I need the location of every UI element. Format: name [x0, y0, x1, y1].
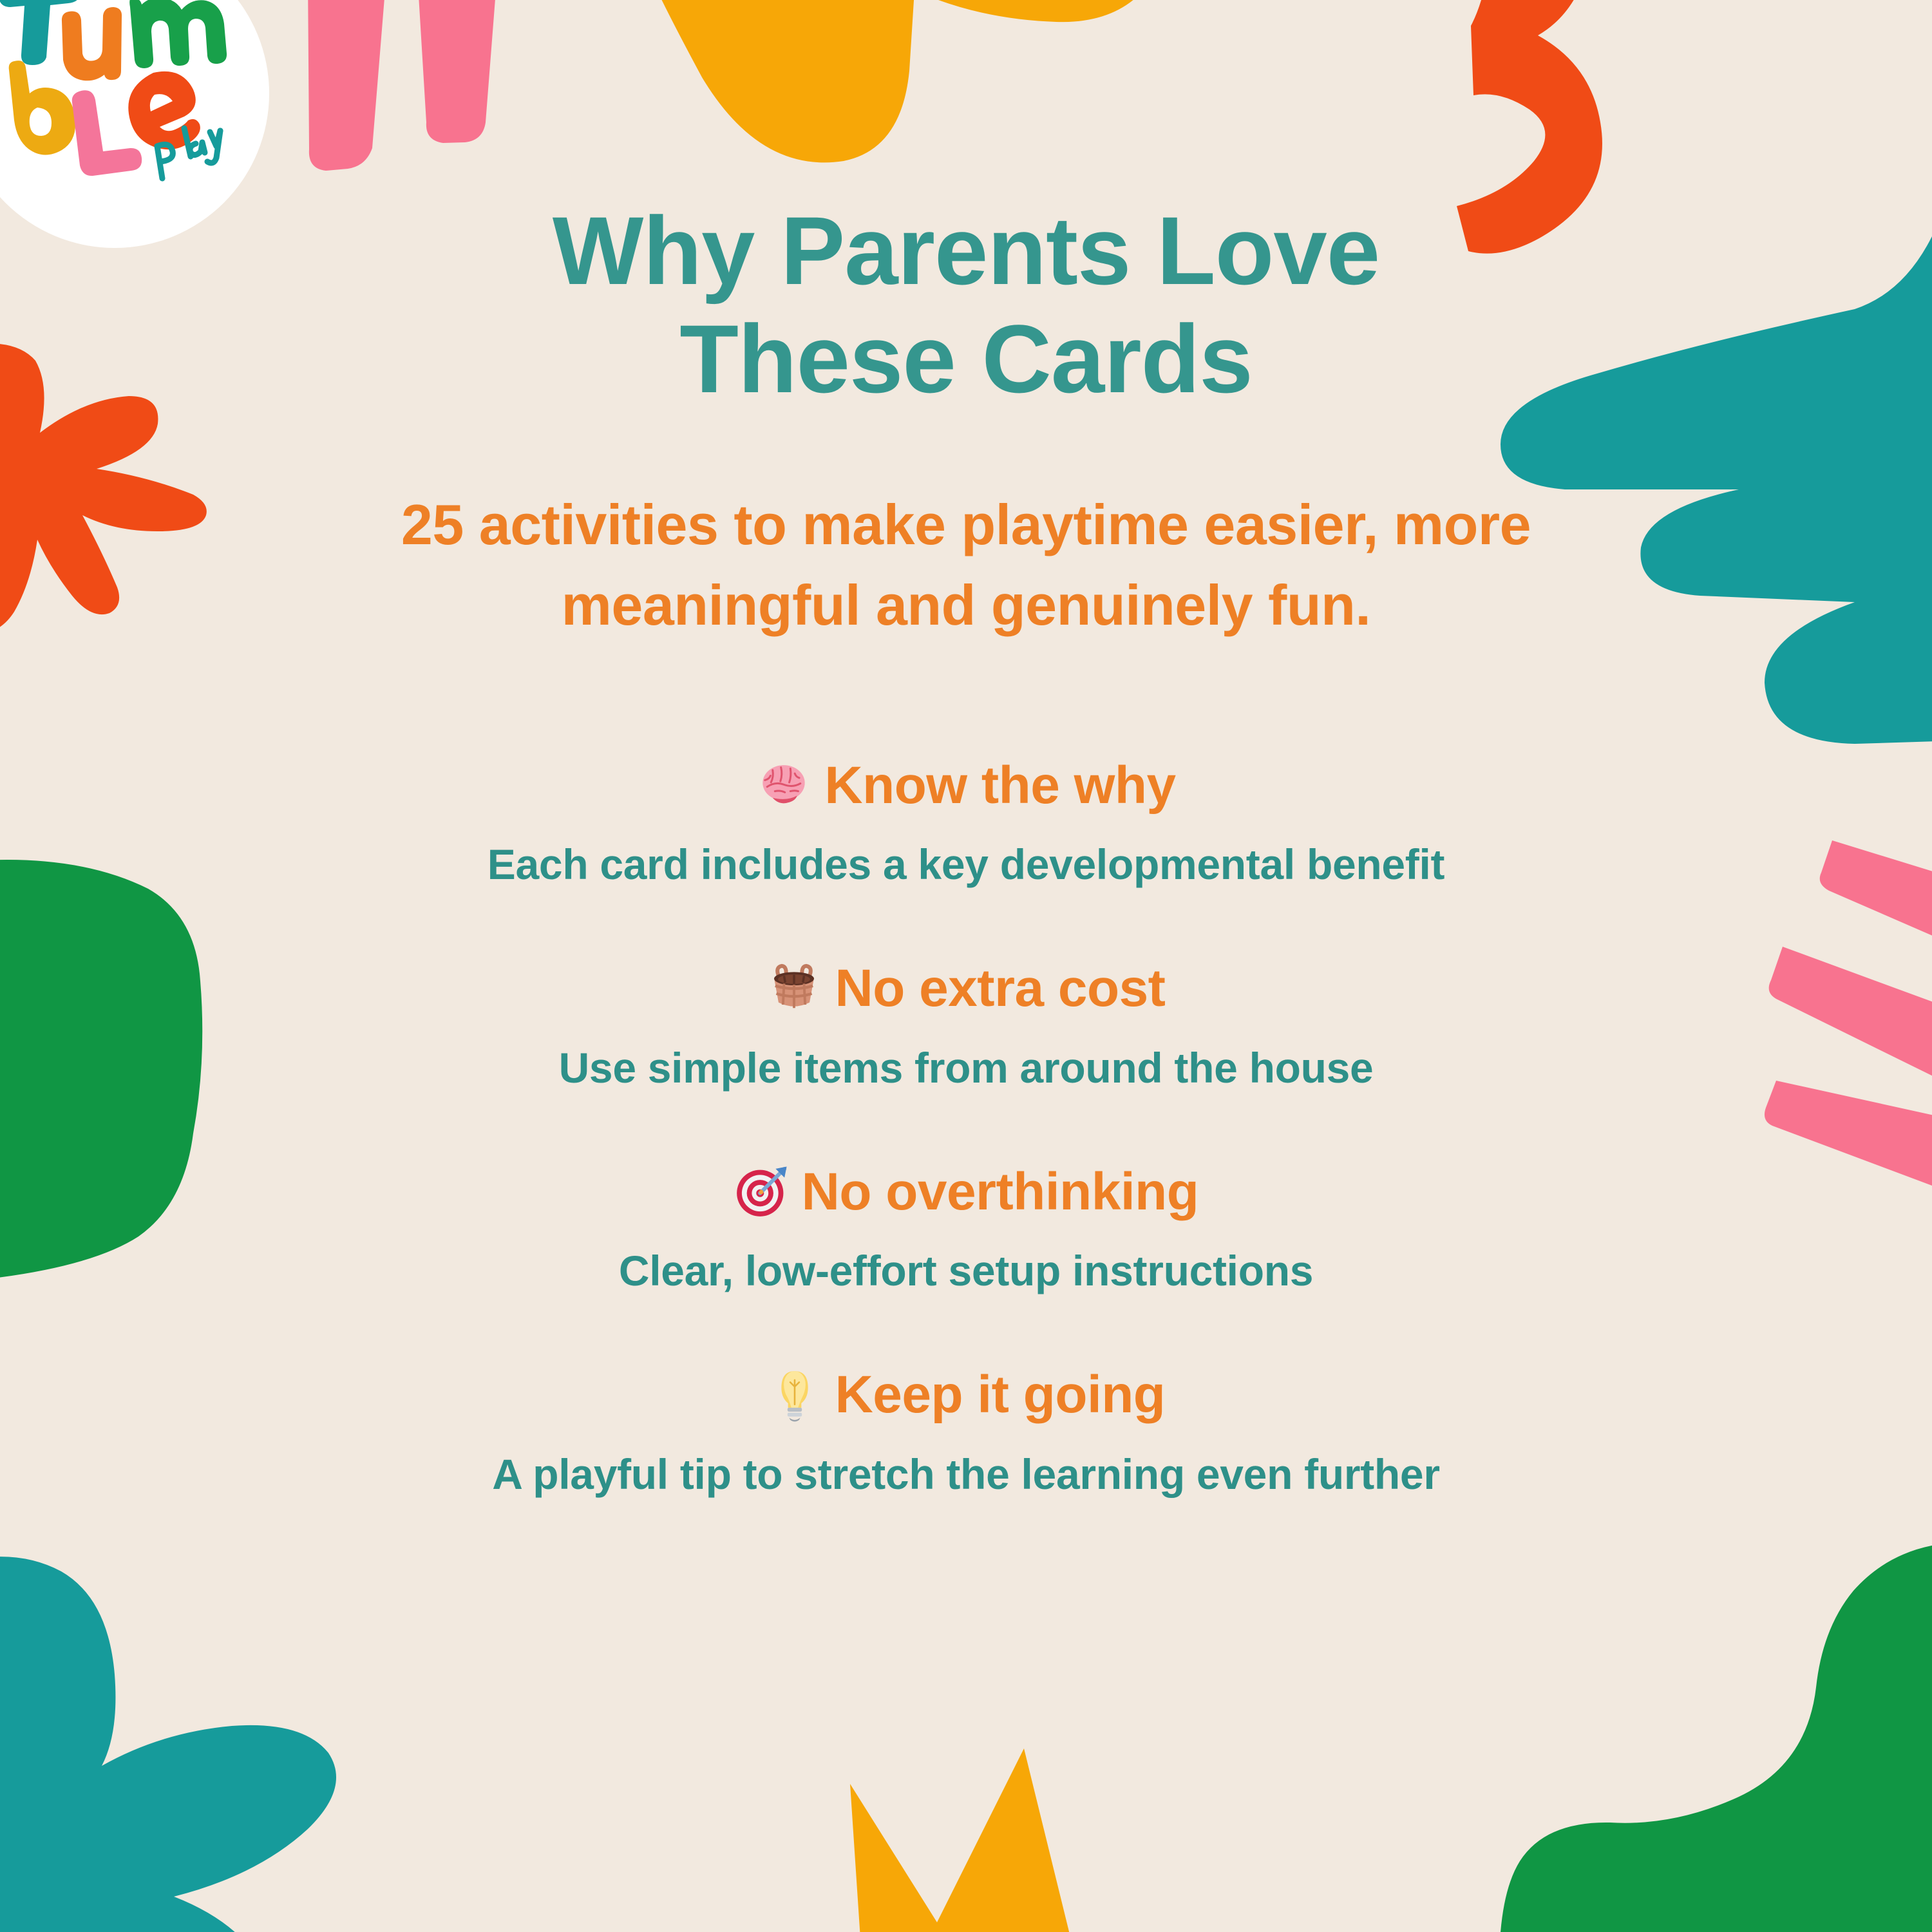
logo-letter-u	[62, 7, 122, 80]
basket-emoji	[766, 961, 822, 1017]
dart-target-emoji	[734, 1164, 789, 1220]
benefit-title-row: No extra cost	[129, 958, 1803, 1019]
benefits-list: Know the why Each card includes a key de…	[129, 755, 1803, 1500]
benefit-item-keep-it-going: Keep it going A playful tip to stretch t…	[129, 1365, 1803, 1499]
poster-content: Why Parents Love These Cards 25 activiti…	[0, 0, 1932, 1932]
poster-canvas: Why Parents Love These Cards 25 activiti…	[0, 0, 1932, 1932]
logo-letter-e	[128, 71, 200, 149]
brand-logo-badge[interactable]	[0, 0, 269, 248]
headline-line-1: Why Parents Love	[553, 196, 1379, 305]
benefit-title-text: Know the why	[824, 755, 1175, 816]
benefit-title-row: No overthinking	[129, 1162, 1803, 1222]
logo-letter-m	[129, 0, 227, 68]
benefit-description: Use simple items from around the house	[129, 1043, 1803, 1094]
benefit-item-no-overthinking: No overthinking Clear, low-effort setup …	[129, 1162, 1803, 1296]
benefit-description: A playful tip to stretch the learning ev…	[129, 1449, 1803, 1500]
lightbulb-emoji	[767, 1368, 822, 1423]
benefit-title-row: Keep it going	[129, 1365, 1803, 1425]
benefit-title-text: Keep it going	[835, 1365, 1166, 1425]
benefit-title-text: No extra cost	[835, 958, 1165, 1019]
benefit-description: Each card includes a key developmental b…	[129, 839, 1803, 890]
brand-logo-art	[0, 0, 269, 248]
subheadline: 25 activities to make playtime easier, m…	[245, 485, 1687, 646]
benefit-item-no-extra-cost: No extra cost Use simple items from arou…	[129, 958, 1803, 1093]
benefit-title-row: Know the why	[129, 755, 1803, 816]
logo-letter-b	[9, 61, 75, 155]
benefit-item-know-the-why: Know the why Each card includes a key de…	[129, 755, 1803, 890]
brain-emoji	[756, 758, 811, 813]
headline-line-2: These Cards	[290, 305, 1642, 413]
benefit-description: Clear, low-effort setup instructions	[129, 1245, 1803, 1296]
benefit-title-text: No overthinking	[802, 1162, 1199, 1222]
page-title: Why Parents Love These Cards	[290, 196, 1642, 413]
